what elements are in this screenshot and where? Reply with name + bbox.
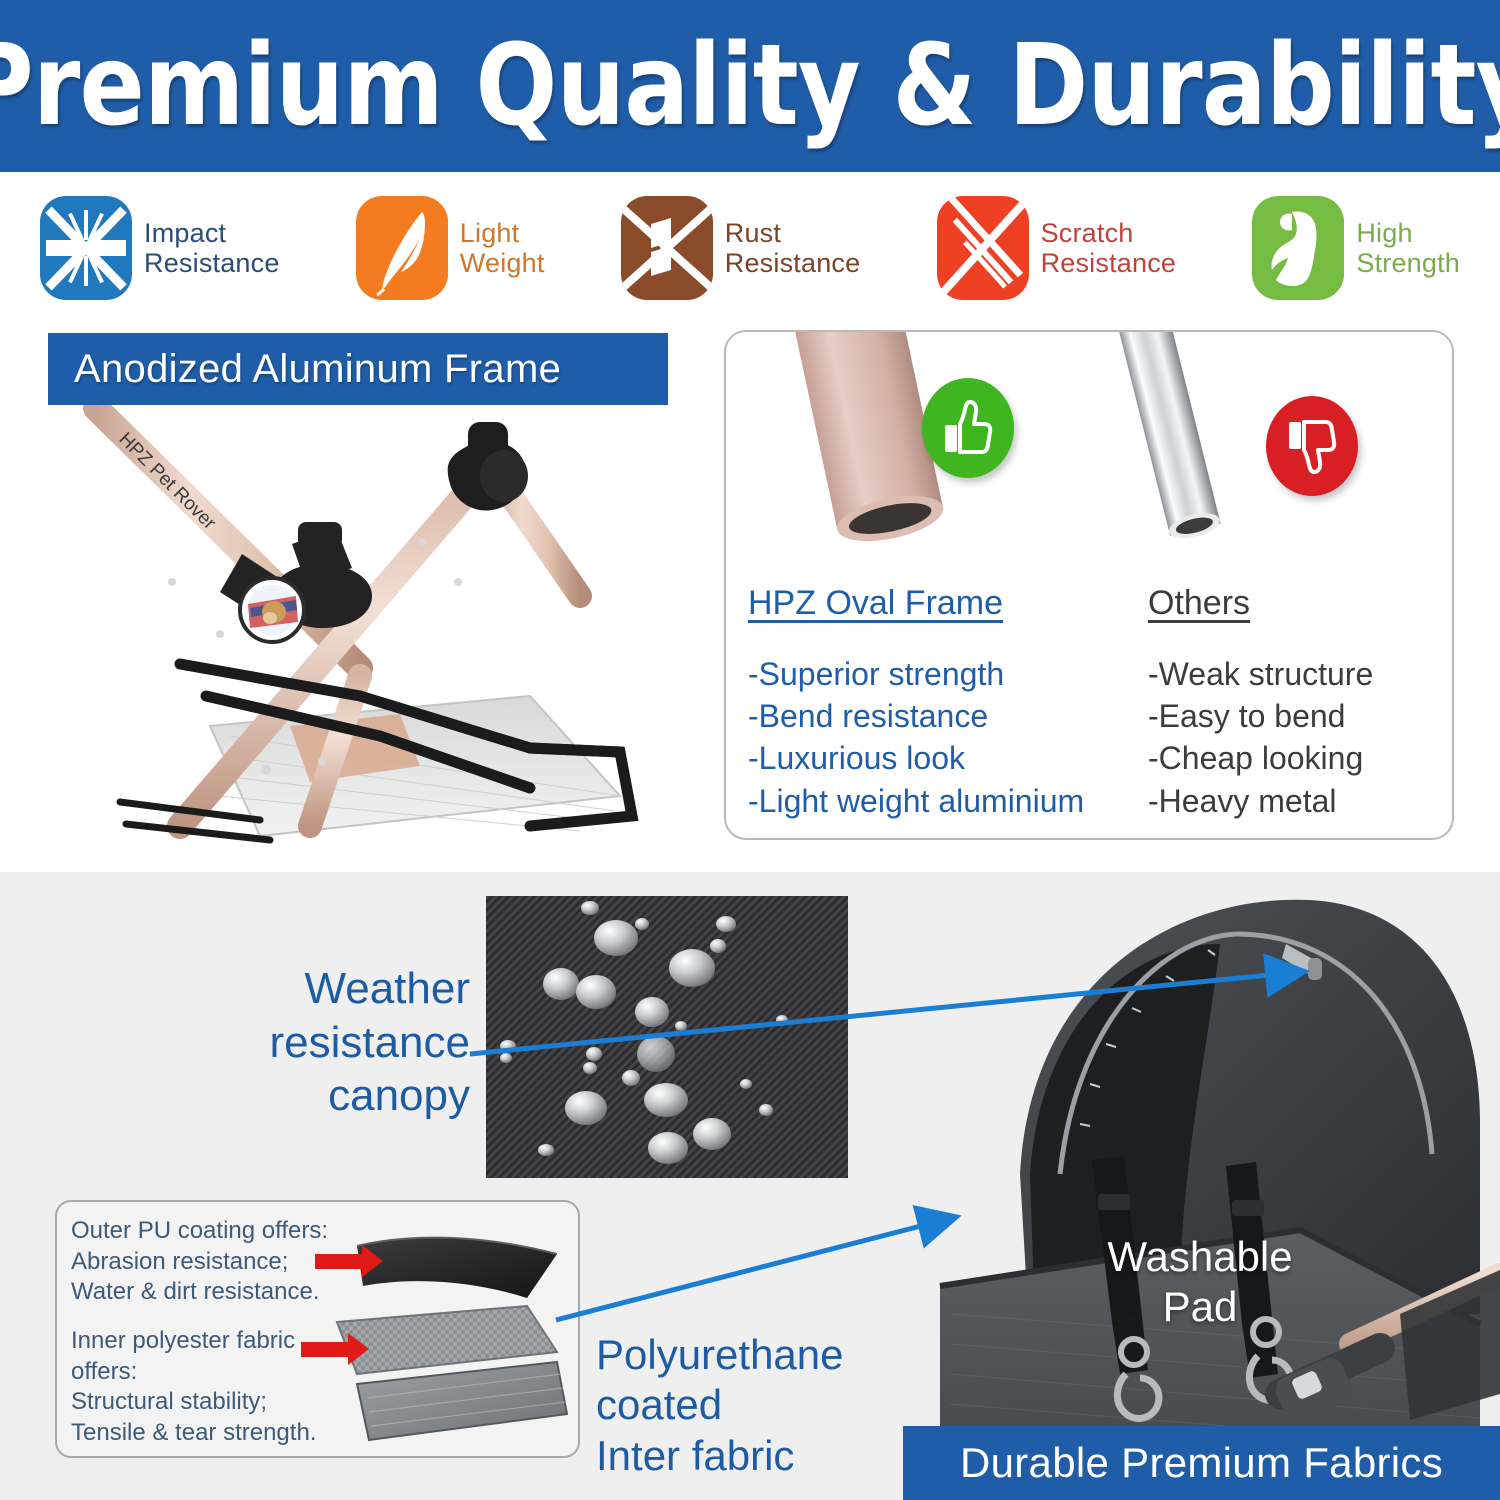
durable-fabrics-banner: Durable Premium Fabrics <box>903 1426 1500 1500</box>
thumbs-up-icon <box>922 378 1014 478</box>
polyurethane-fabric-label: Polyurethane coated Inter fabric <box>596 1330 844 1481</box>
page-header: Premium Quality & Durability <box>0 0 1500 172</box>
others-item: -Cheap looking <box>1148 737 1454 779</box>
feather-icon <box>356 196 448 300</box>
impact-resistance-icon <box>40 196 132 300</box>
frame-comparison-panel: HPZ Oval Frame -Superior strength -Bend … <box>724 330 1454 840</box>
hpz-column: HPZ Oval Frame -Superior strength -Bend … <box>726 584 1126 840</box>
feature-label: Light Weight <box>460 218 545 279</box>
durable-fabrics-label: Durable Premium Fabrics <box>960 1439 1443 1487</box>
feature-label: Impact Resistance <box>144 218 280 279</box>
red-arrow-icon <box>301 1342 349 1357</box>
page-title: Premium Quality & Durability <box>0 21 1500 151</box>
others-heading: Others <box>1148 584 1250 623</box>
rust-resistance-icon <box>621 196 713 300</box>
canopy-label: Weather resistance canopy <box>150 962 470 1123</box>
others-item: -Easy to bend <box>1148 695 1454 737</box>
hpz-item: -Light weight aluminium <box>748 780 1126 822</box>
hpz-item: -Superior strength <box>748 653 1126 695</box>
pet-stroller-pad-photo <box>880 874 1500 1454</box>
anodized-frame-label: Anodized Aluminum Frame <box>74 347 561 392</box>
bicep-icon <box>1252 196 1344 300</box>
feature-badge-row: Impact Resistance Light Weight Rust Resi… <box>0 178 1500 318</box>
aluminum-frame-photo: HPZ Pet Rover <box>60 396 700 846</box>
pu-coating-diagram: Outer PU coating offers: Abrasion resist… <box>55 1200 580 1458</box>
feature-rust-resistance: Rust Resistance <box>621 196 861 300</box>
feature-high-strength: High Strength <box>1252 196 1460 300</box>
others-column: Others -Weak structure -Easy to bend -Ch… <box>1126 584 1454 840</box>
washable-pad-label: Washable Pad <box>1080 1232 1320 1331</box>
outer-pu-coating-text: Outer PU coating offers: Abrasion resist… <box>71 1216 328 1308</box>
feature-light-weight: Light Weight <box>356 196 545 300</box>
red-arrow-icon <box>315 1254 363 1269</box>
others-item: -Weak structure <box>1148 653 1454 695</box>
feature-label: High Strength <box>1356 218 1460 279</box>
hpz-item: -Bend resistance <box>748 695 1126 737</box>
thumbs-down-icon <box>1266 396 1358 496</box>
scratch-resistance-icon <box>937 196 1029 300</box>
inner-polyester-text: Inner polyester fabric offers: Structura… <box>71 1326 316 1449</box>
others-item: -Heavy metal <box>1148 780 1454 822</box>
hpz-item: -Luxurious look <box>748 737 1126 779</box>
feature-label: Scratch Resistance <box>1041 218 1177 279</box>
hpz-heading: HPZ Oval Frame <box>748 584 1003 623</box>
feature-label: Rust Resistance <box>725 218 861 279</box>
water-repellent-fabric-photo <box>486 896 848 1178</box>
anodized-frame-banner: Anodized Aluminum Frame <box>48 333 668 405</box>
feature-scratch-resistance: Scratch Resistance <box>937 196 1177 300</box>
feature-impact-resistance: Impact Resistance <box>40 196 280 300</box>
